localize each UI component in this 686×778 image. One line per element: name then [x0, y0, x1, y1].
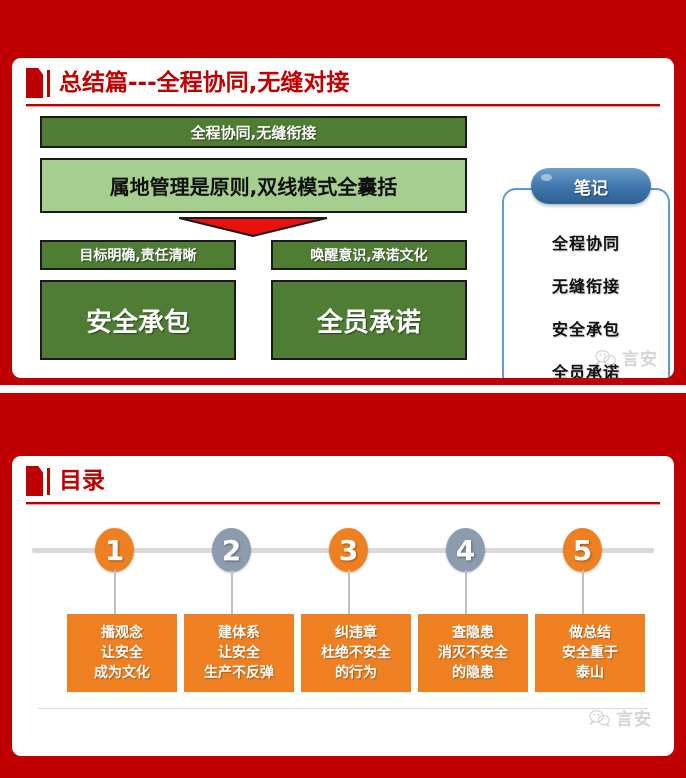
step-line: 安全重于 [562, 643, 618, 663]
step-line: 让安全 [101, 643, 143, 663]
step-card[interactable]: 播观念 让安全 成为文化 [67, 614, 177, 692]
step-connector [114, 570, 116, 614]
slide-deck-page: 总结篇---全程协同,无缝对接 全程协同,无缝衔接 属地管理是原则,双线模式全囊… [0, 0, 686, 778]
step-card[interactable]: 纠违章 杜绝不安全 的行为 [301, 614, 411, 692]
banner-box: 全程协同,无缝衔接 [40, 116, 467, 148]
toc-body: 1 播观念 让安全 成为文化 2 建体系 让安全 生产不反弹 [12, 508, 674, 756]
notes-header-pill: 笔记 [531, 168, 651, 204]
step-line: 播观念 [101, 623, 143, 643]
step-line: 消灭不安全 [438, 643, 508, 663]
step-number-badge: 1 [95, 528, 134, 572]
page-title: 目录 [59, 470, 105, 493]
step-line: 纠违章 [335, 623, 377, 643]
watermark-summary: 言安 [595, 345, 658, 370]
step-card[interactable]: 做总结 安全重于 泰山 [535, 614, 645, 692]
bookmark-flag-icon [26, 466, 43, 496]
step-connector [348, 570, 350, 614]
title-underline [26, 104, 660, 107]
step-card[interactable]: 建体系 让安全 生产不反弹 [184, 614, 294, 692]
step-connector [465, 570, 467, 614]
title-divider-bar [47, 468, 50, 495]
pillar-1-headline: 安全承包 [40, 280, 236, 360]
down-arrow-icon [179, 217, 327, 237]
principle-box: 属地管理是原则,双线模式全囊括 [40, 158, 467, 213]
footer-rule [38, 708, 648, 709]
slide-separator [0, 385, 686, 393]
notes-item: 安全承包 [552, 316, 620, 340]
pillar-2-headline: 全员承诺 [271, 280, 467, 360]
step-line: 的隐患 [452, 663, 494, 683]
wechat-icon [589, 709, 611, 727]
step-connector [231, 570, 233, 614]
title-divider-bar [47, 70, 50, 97]
notes-item: 无缝衔接 [552, 273, 620, 297]
step-number-badge: 5 [563, 528, 602, 572]
step-line: 查隐患 [452, 623, 494, 643]
step-card[interactable]: 查隐患 消灭不安全 的隐患 [418, 614, 528, 692]
notes-item: 全程协同 [552, 230, 620, 254]
wechat-icon [595, 349, 617, 367]
slide-toc: 目录 1 播观念 让安全 成为文化 2 建体系 让安全 [12, 456, 674, 756]
step-line: 杜绝不安全 [321, 643, 391, 663]
step-line: 泰山 [576, 663, 604, 683]
watermark-label: 言安 [622, 345, 658, 370]
title-underline [26, 502, 660, 505]
step-number-badge: 4 [446, 528, 485, 572]
summary-body: 全程协同,无缝衔接 属地管理是原则,双线模式全囊括 目标明确,责任清晰 唤醒意识… [12, 110, 674, 378]
step-line: 的行为 [335, 663, 377, 683]
watermark-toc: 言安 [589, 705, 652, 730]
slide-toc-title-row: 目录 [12, 466, 674, 496]
bookmark-flag-icon [26, 68, 43, 98]
step-number-badge: 3 [329, 528, 368, 572]
step-line: 成为文化 [94, 663, 150, 683]
step-line: 建体系 [218, 623, 260, 643]
watermark-label: 言安 [616, 705, 652, 730]
slide-summary-title-row: 总结篇---全程协同,无缝对接 [12, 68, 674, 98]
pillar-2-caption: 唤醒意识,承诺文化 [271, 240, 467, 270]
slide-summary: 总结篇---全程协同,无缝对接 全程协同,无缝衔接 属地管理是原则,双线模式全囊… [12, 58, 674, 378]
page-title: 总结篇---全程协同,无缝对接 [59, 72, 349, 95]
step-line: 让安全 [218, 643, 260, 663]
step-line: 生产不反弹 [204, 663, 274, 683]
step-line: 做总结 [569, 623, 611, 643]
step-connector [582, 570, 584, 614]
step-number-badge: 2 [212, 528, 251, 572]
pillar-1-caption: 目标明确,责任清晰 [40, 240, 236, 270]
